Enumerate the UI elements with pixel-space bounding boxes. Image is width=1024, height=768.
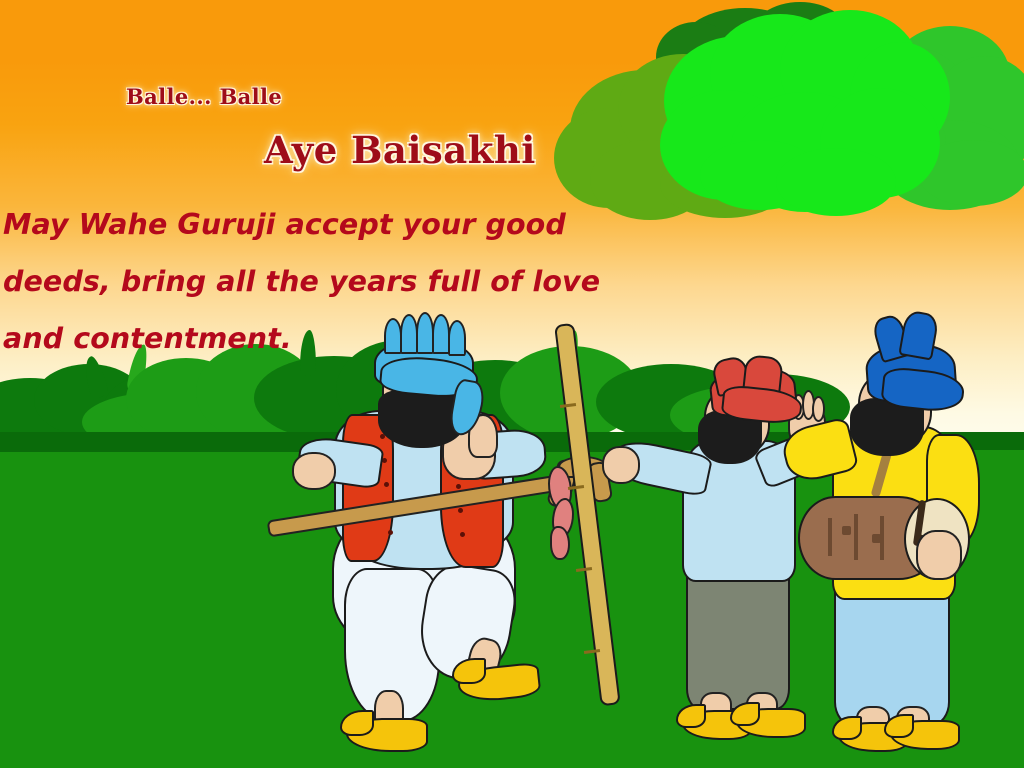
greeting-message: May Wahe Guruji accept your good deeds, … xyxy=(3,196,623,367)
greeting-line-3: and contentment. xyxy=(3,310,623,367)
jutti-shoe xyxy=(340,710,374,736)
headline-balle-balle: Balle... Balle xyxy=(126,84,282,109)
figure-dhol-drummer xyxy=(820,338,1020,758)
bamboo-pole xyxy=(548,318,618,708)
greeting-card-canvas: Balle... Balle Aye Baisakhi May Wahe Gur… xyxy=(0,0,1024,768)
greeting-line-1: May Wahe Guruji accept your good xyxy=(3,196,623,253)
page-title-aye-baisakhi: Aye Baisakhi xyxy=(264,128,536,172)
greeting-line-2: deeds, bring all the years full of love xyxy=(3,253,623,310)
